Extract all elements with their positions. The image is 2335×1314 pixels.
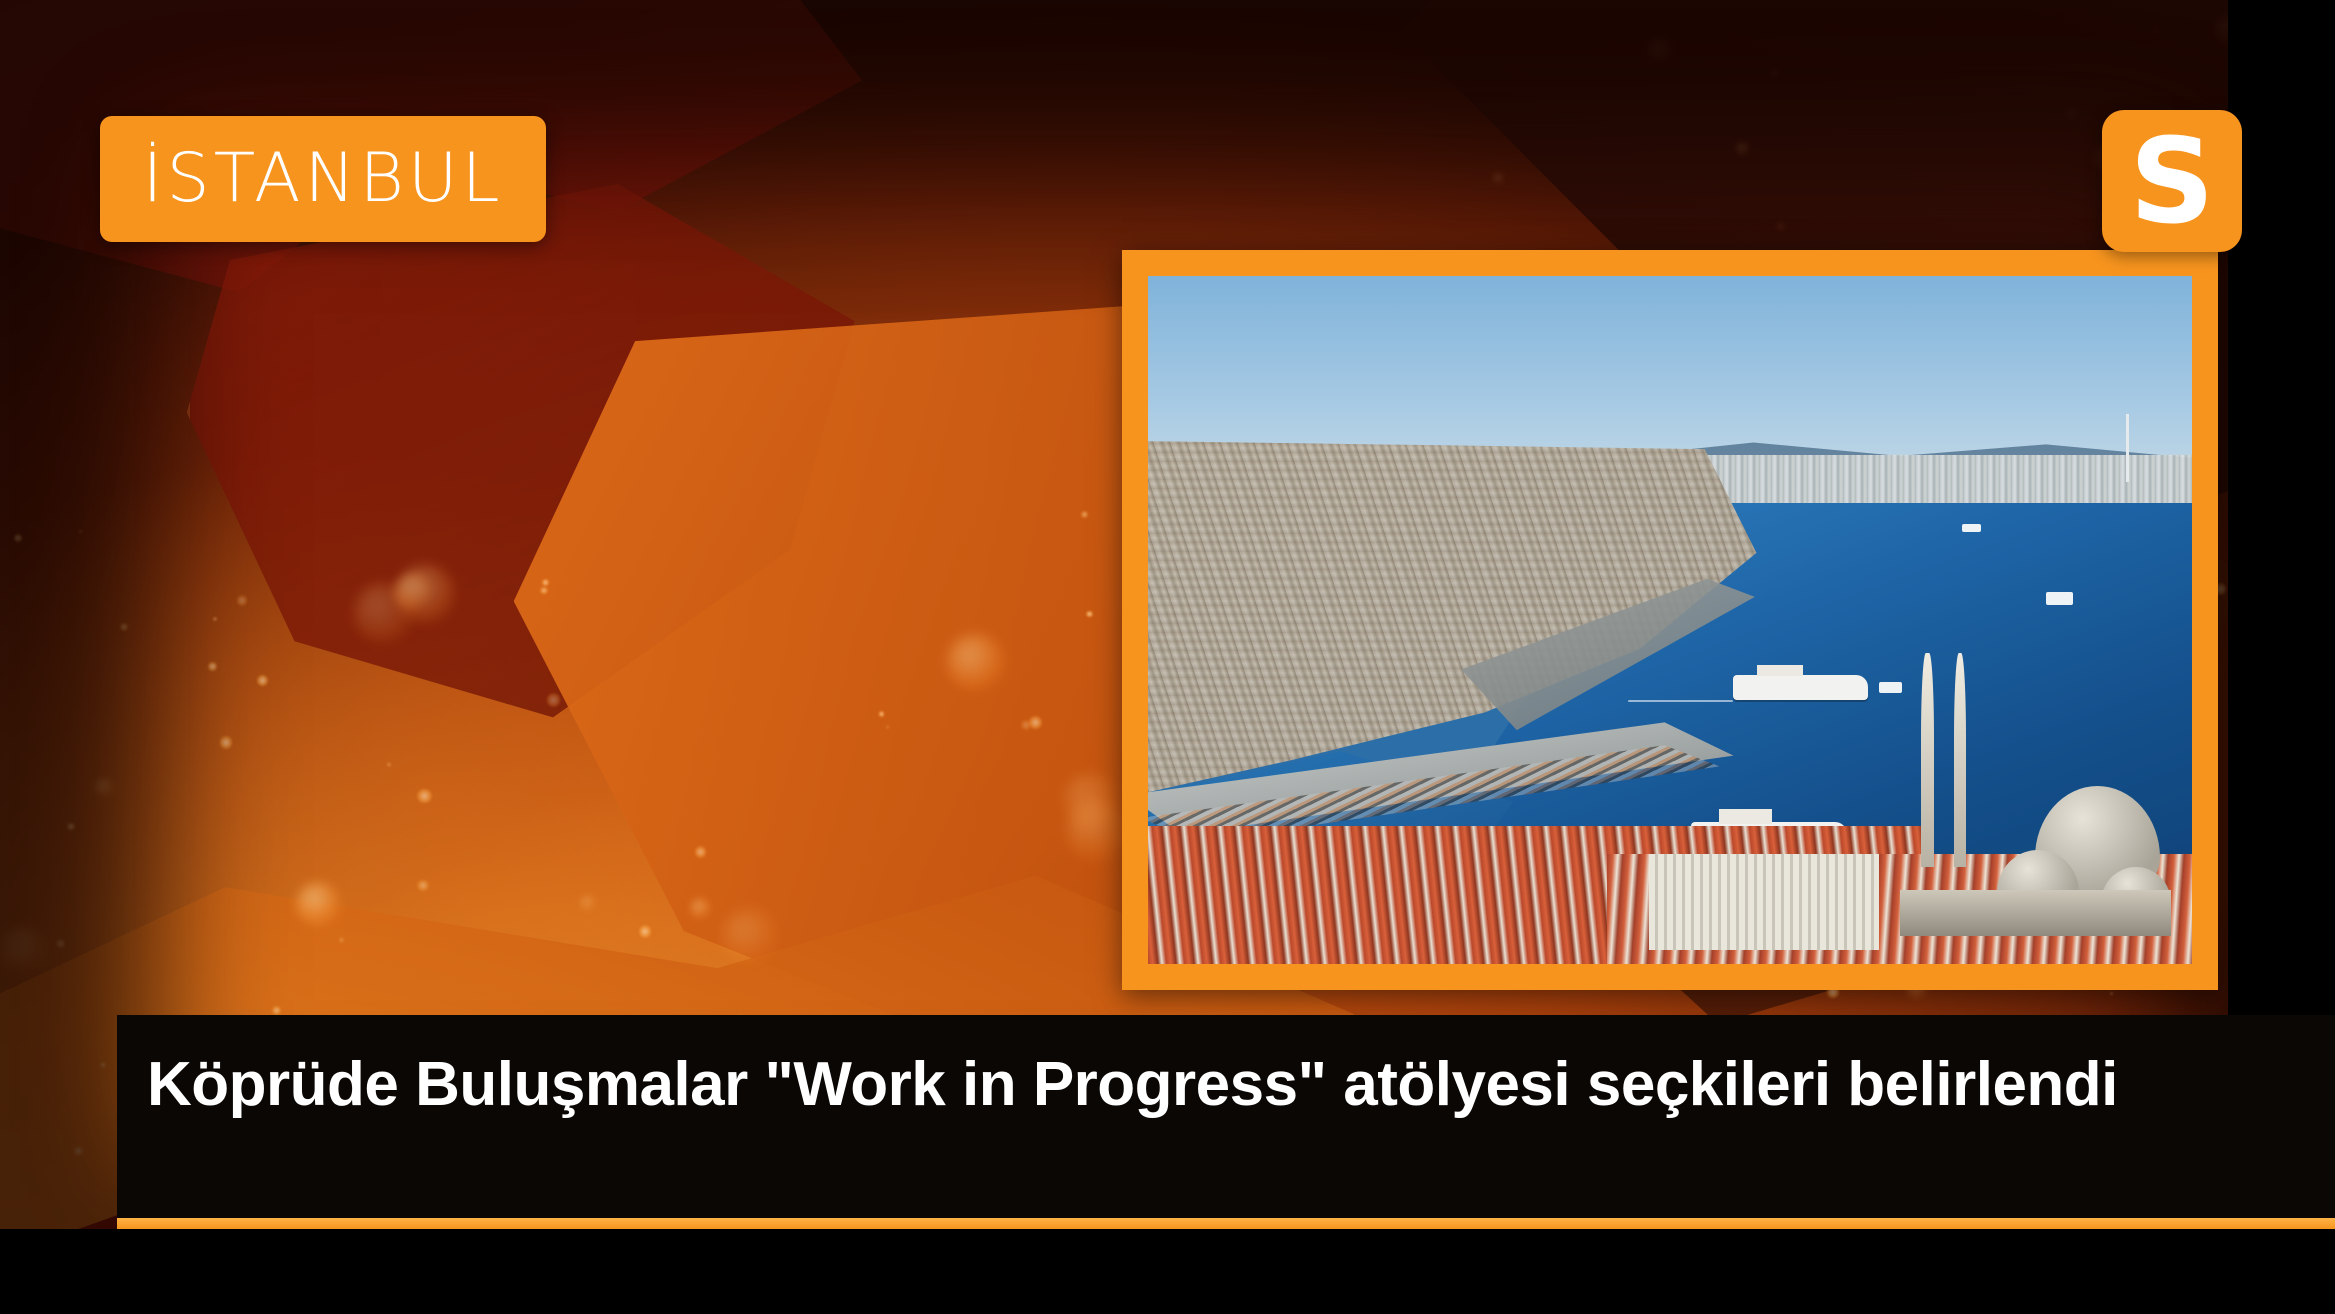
yeni-cami-mosque	[1900, 648, 2171, 937]
bottom-black-bar	[0, 1229, 2335, 1314]
small-boat	[1962, 524, 1981, 532]
news-card: İSTANBUL	[0, 0, 2335, 1314]
mosque-base	[1900, 890, 2171, 936]
istanbul-photo	[1148, 276, 2192, 964]
small-boat	[1879, 682, 1902, 693]
headline-bar: Köprüde Buluşmalar "Work in Progress" at…	[117, 1015, 2335, 1218]
boat-wake	[1628, 700, 1732, 702]
city-badge: İSTANBUL	[100, 116, 546, 242]
waterfront-building	[1649, 854, 1879, 950]
bosphorus-bridge-tower	[2126, 414, 2129, 483]
ferry-boat	[1733, 675, 1869, 700]
orange-accent-rule	[117, 1218, 2335, 1229]
minaret	[1954, 653, 1966, 867]
minaret	[1921, 653, 1933, 867]
logo-letter: S	[2130, 133, 2215, 230]
sozcu-s-logo[interactable]: S	[2102, 110, 2242, 252]
headline-text: Köprüde Buluşmalar "Work in Progress" at…	[147, 1049, 2118, 1121]
photo-frame	[1122, 250, 2218, 990]
small-boat	[2046, 592, 2073, 604]
city-badge-label: İSTANBUL	[142, 145, 503, 213]
